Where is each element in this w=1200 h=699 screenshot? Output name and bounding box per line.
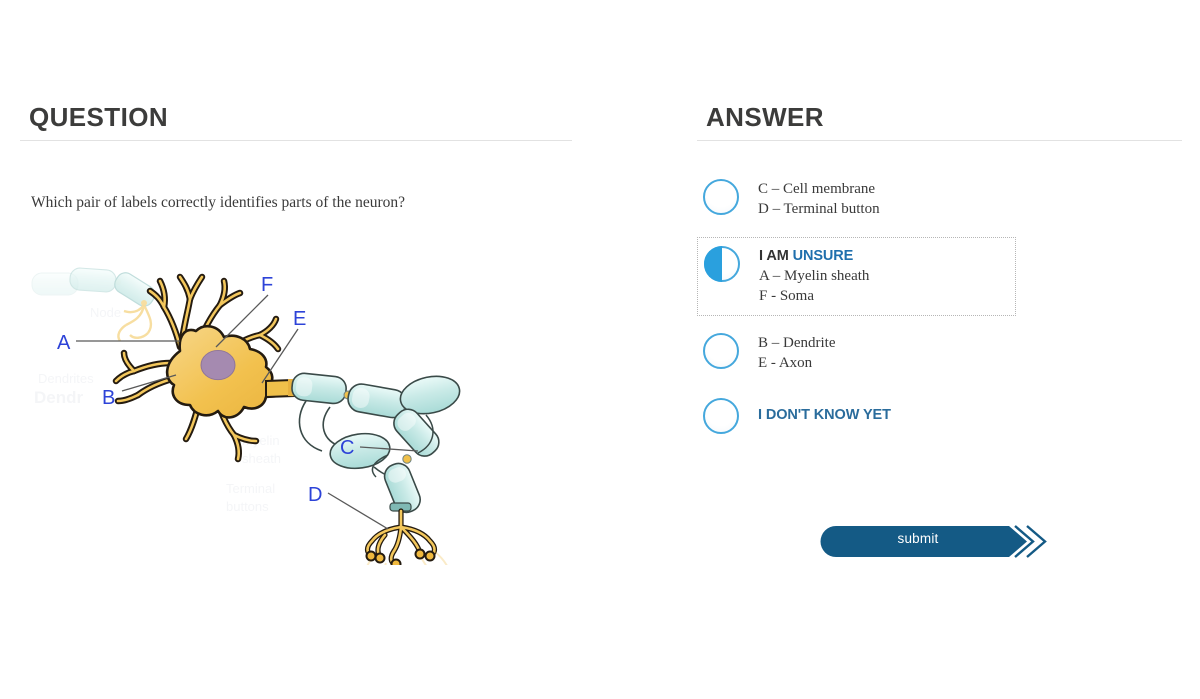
radio-icon-unselected[interactable] bbox=[703, 333, 739, 369]
answer-options-list: C – Cell membrane D – Terminal button I … bbox=[697, 172, 1182, 440]
figure-label-B: B bbox=[102, 387, 115, 409]
figure-label-C: C bbox=[340, 437, 354, 459]
option-b-e[interactable]: B – Dendrite E - Axon bbox=[697, 326, 1182, 379]
option-c-d-text: C – Cell membrane D – Terminal button bbox=[739, 178, 880, 219]
svg-text:Dendrites: Dendrites bbox=[38, 371, 94, 386]
spacer bbox=[697, 225, 1182, 237]
svg-text:Terminal: Terminal bbox=[226, 481, 275, 496]
option-title-accent: UNSURE bbox=[793, 248, 854, 264]
neuron-diagram: Dendrites Dendr Myelin sheath Terminal b… bbox=[30, 255, 470, 565]
svg-text:Node: Node bbox=[90, 305, 121, 320]
submit-button-label: submit bbox=[819, 522, 1017, 556]
option-c-d-line-1: C – Cell membrane bbox=[758, 179, 880, 199]
option-i-dont-know-yet[interactable]: I DON'T KNOW YET bbox=[697, 391, 1182, 440]
radio-icon-half-filled[interactable] bbox=[704, 246, 740, 282]
svg-text:Dendr: Dendr bbox=[34, 388, 84, 407]
spacer bbox=[697, 316, 1182, 326]
option-title-lead: I AM bbox=[759, 248, 793, 264]
figure-label-F: F bbox=[261, 274, 273, 296]
answer-heading: ANSWER bbox=[697, 100, 1182, 140]
radio-icon-unselected[interactable] bbox=[703, 179, 739, 215]
svg-text:sheath: sheath bbox=[242, 451, 281, 466]
svg-text:buttons: buttons bbox=[226, 499, 269, 514]
option-c-d[interactable]: C – Cell membrane D – Terminal button bbox=[697, 172, 1182, 225]
spacer bbox=[697, 379, 1182, 391]
option-i-am-unsure-line-1: A – Myelin sheath bbox=[759, 266, 869, 286]
option-i-am-unsure-line-2: F - Soma bbox=[759, 286, 869, 306]
question-prompt: Which pair of labels correctly identifie… bbox=[20, 141, 572, 213]
option-i-dont-know-yet-title: I DON'T KNOW YET bbox=[758, 405, 891, 425]
radio-icon-unselected[interactable] bbox=[703, 398, 739, 434]
figure-label-A: A bbox=[57, 332, 71, 354]
submit-button[interactable]: submit bbox=[819, 522, 1029, 556]
submit-area: submit bbox=[819, 522, 1054, 564]
option-i-am-unsure-title: I AM UNSURE bbox=[759, 246, 869, 266]
nucleus bbox=[201, 350, 235, 379]
figure-label-D: D bbox=[308, 484, 322, 506]
question-panel: QUESTION Which pair of labels correctly … bbox=[20, 100, 572, 620]
figure-label-E: E bbox=[293, 308, 306, 330]
option-b-e-line-2: E - Axon bbox=[758, 353, 835, 373]
option-c-d-line-2: D – Terminal button bbox=[758, 199, 880, 219]
question-heading: QUESTION bbox=[20, 100, 572, 140]
answer-heading-rule bbox=[697, 140, 1182, 141]
option-i-dont-know-yet-text: I DON'T KNOW YET bbox=[739, 397, 891, 425]
option-i-am-unsure-text: I AM UNSURE A – Myelin sheath F - Soma bbox=[740, 245, 869, 306]
option-b-e-text: B – Dendrite E - Axon bbox=[739, 332, 835, 373]
terminal-buttons bbox=[361, 511, 452, 565]
option-b-e-line-1: B – Dendrite bbox=[758, 333, 835, 353]
answer-panel: ANSWER C – Cell membrane D – Terminal bu… bbox=[697, 100, 1182, 620]
option-i-am-unsure[interactable]: I AM UNSURE A – Myelin sheath F - Soma bbox=[697, 237, 1016, 316]
axon-myelin bbox=[266, 371, 463, 516]
